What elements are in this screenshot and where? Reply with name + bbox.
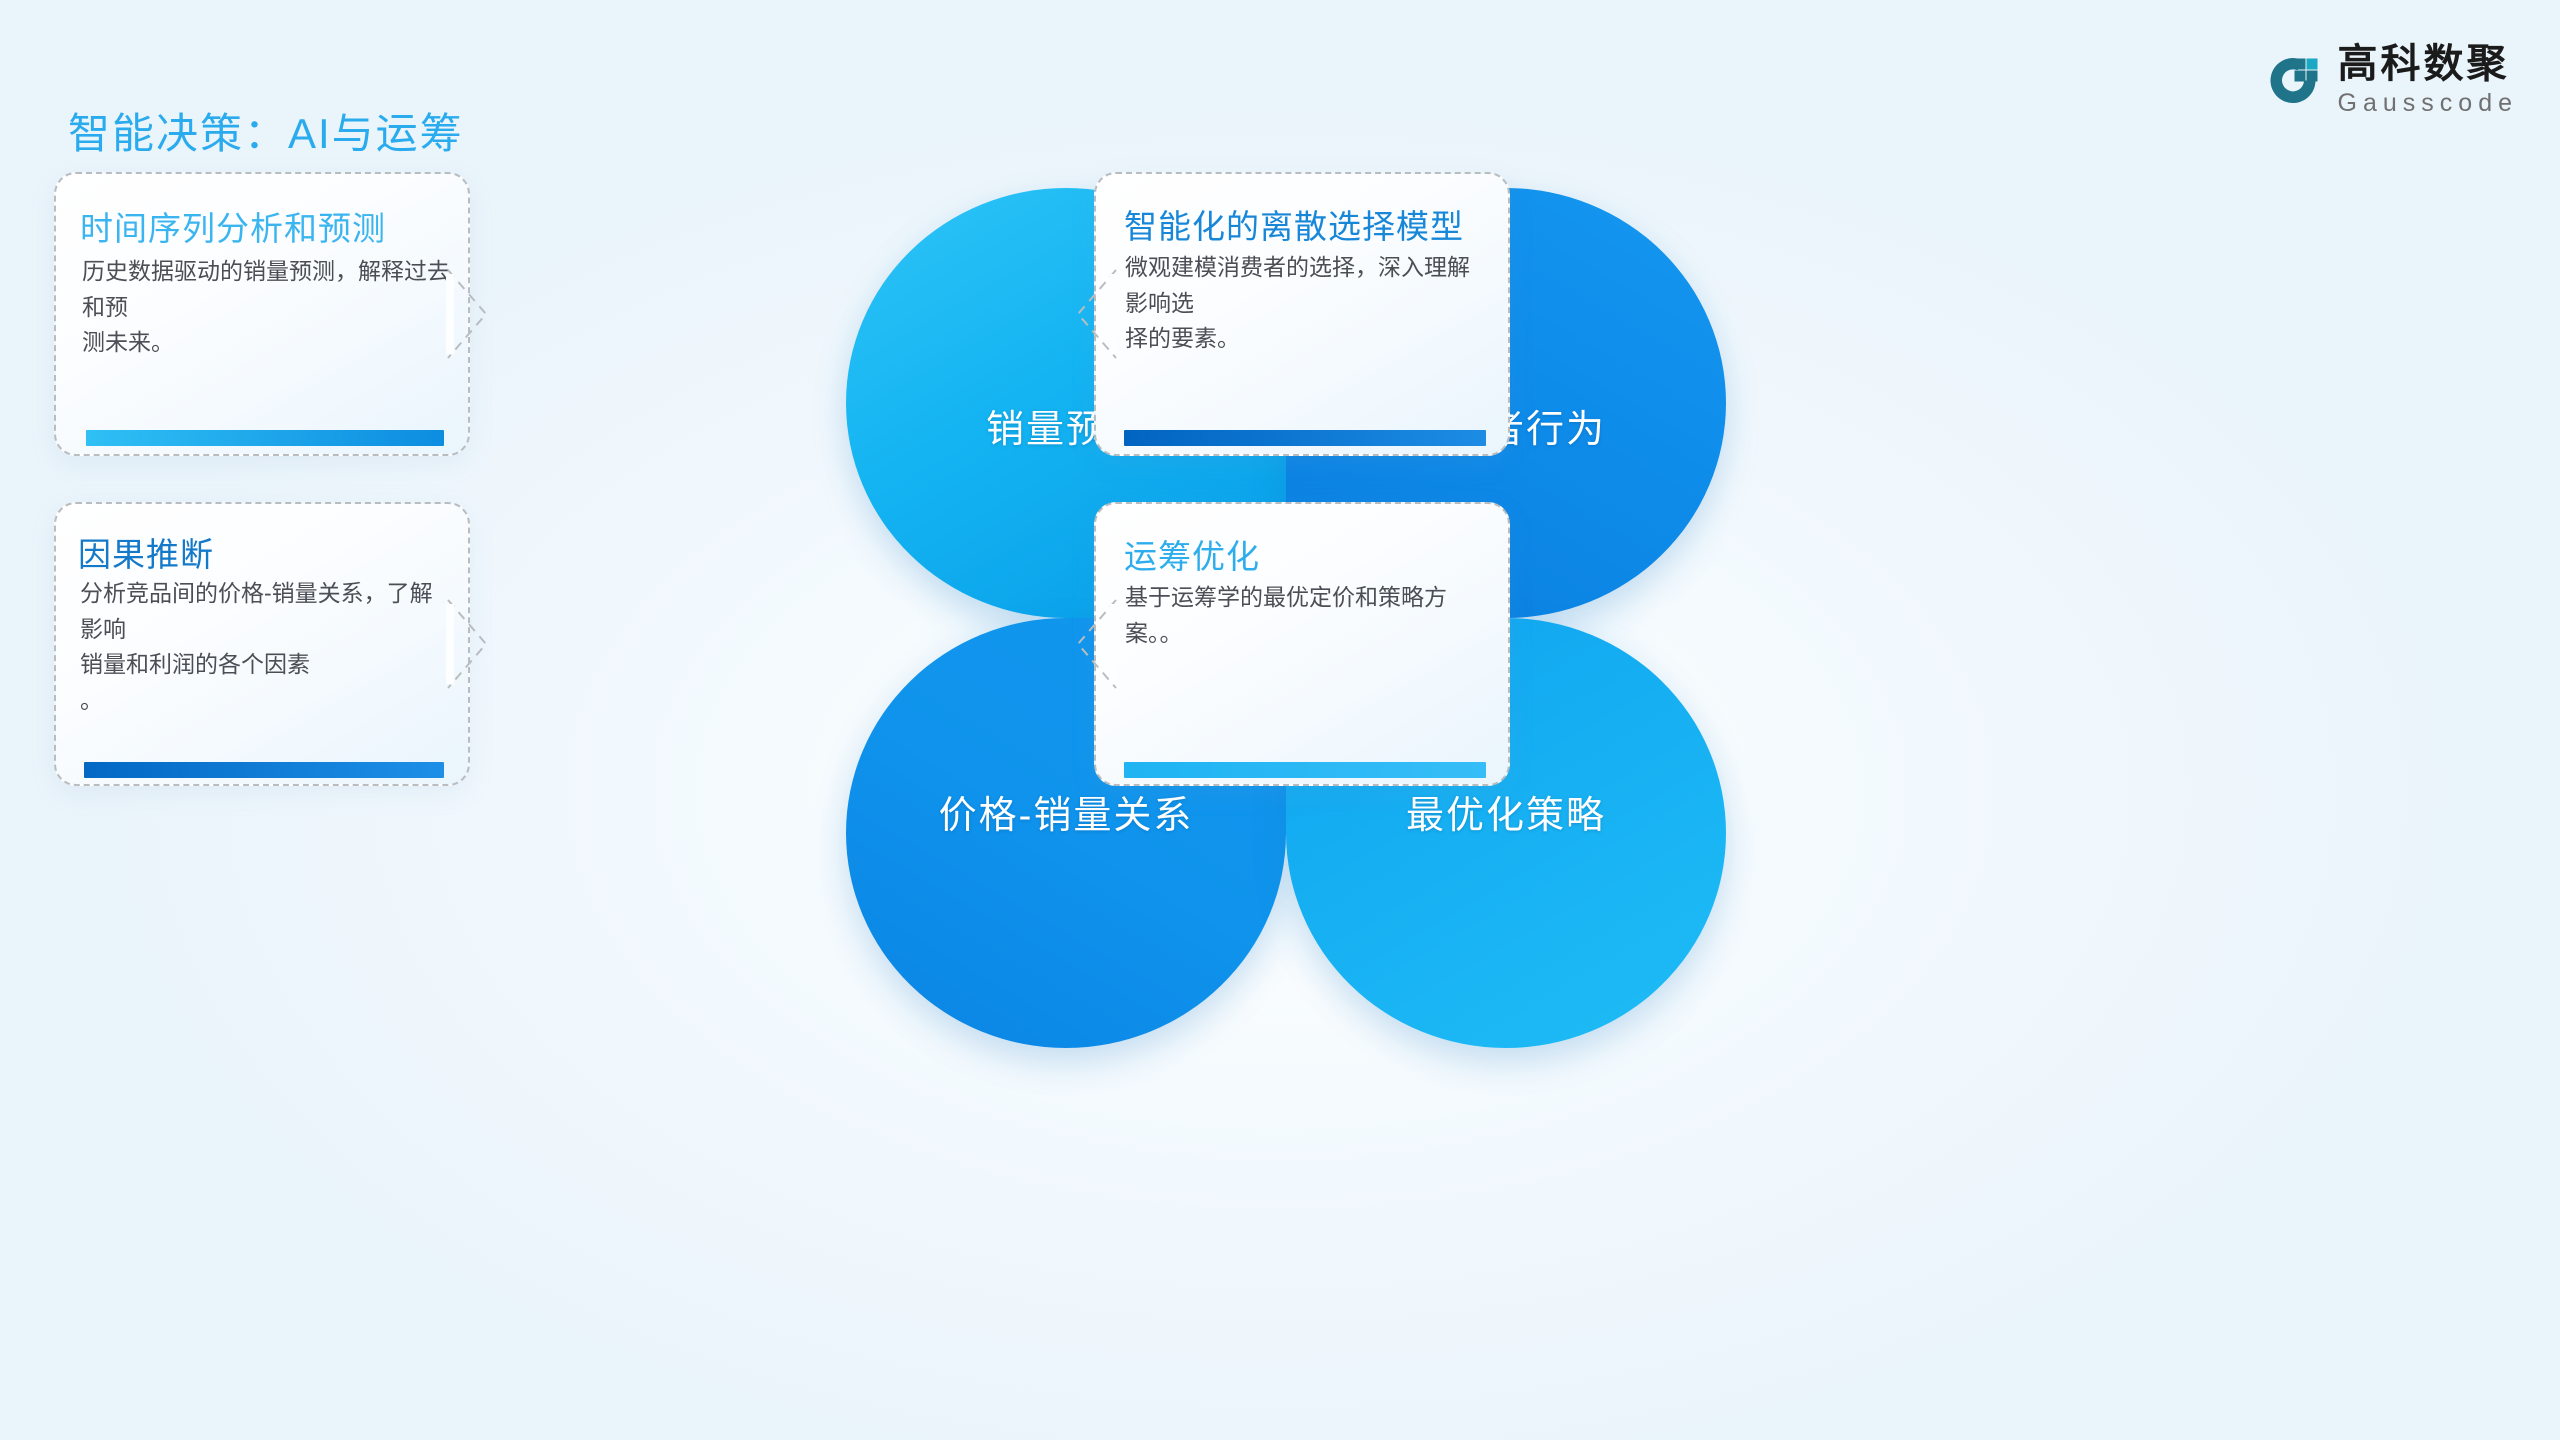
page-title: 智能决策：AI与运筹 [68,100,464,161]
slide-canvas: 智能决策：AI与运筹 高科数聚 Gausscode 销量预测 消费者行为 价格-… [0,0,2560,1440]
card-causal-inference[interactable]: 因果推断 分析竞品间的价格-销量关系，了解影响 销量和利润的各个因素 。 [54,502,470,786]
petal-label: 最优化策略 [1406,784,1606,839]
connector-chevron-left-icon [1072,598,1118,690]
card-accent-bar [84,762,444,778]
connector-chevron-right-icon [446,598,492,690]
card-body: 微观建模消费者的选择，深入理解影响选 择的要素。 [1125,250,1487,357]
card-title: 智能化的离散选择模型 [1124,200,1464,248]
card-accent-bar [1124,430,1486,446]
connector-chevron-left-icon [1072,268,1118,360]
card-time-series[interactable]: 时间序列分析和预测 历史数据驱动的销量预测，解释过去和预 测未来。 [54,172,470,456]
connector-chevron-right-icon [446,268,492,360]
brand-logo: 高科数聚 Gausscode [2264,44,2518,116]
card-accent-bar [1124,762,1486,778]
card-body: 历史数据驱动的销量预测，解释过去和预 测未来。 [82,254,450,361]
card-title: 因果推断 [78,528,214,576]
card-body: 分析竞品间的价格-销量关系，了解影响 销量和利润的各个因素 。 [80,576,448,719]
card-body: 基于运筹学的最优定价和策略方案。。 [1125,580,1493,651]
brand-logo-text: 高科数聚 Gausscode [2338,44,2518,116]
card-operations-optimization[interactable]: 运筹优化 基于运筹学的最优定价和策略方案。。 [1094,502,1510,786]
petal-label: 价格-销量关系 [939,784,1194,839]
brand-name-en: Gausscode [2338,91,2518,116]
card-accent-bar [86,430,444,446]
card-title: 时间序列分析和预测 [80,202,386,250]
gausscode-logo-mark [2264,51,2322,109]
card-title: 运筹优化 [1124,530,1260,578]
brand-name-cn: 高科数聚 [2338,44,2518,84]
card-discrete-choice-model[interactable]: 智能化的离散选择模型 微观建模消费者的选择，深入理解影响选 择的要素。 [1094,172,1510,456]
